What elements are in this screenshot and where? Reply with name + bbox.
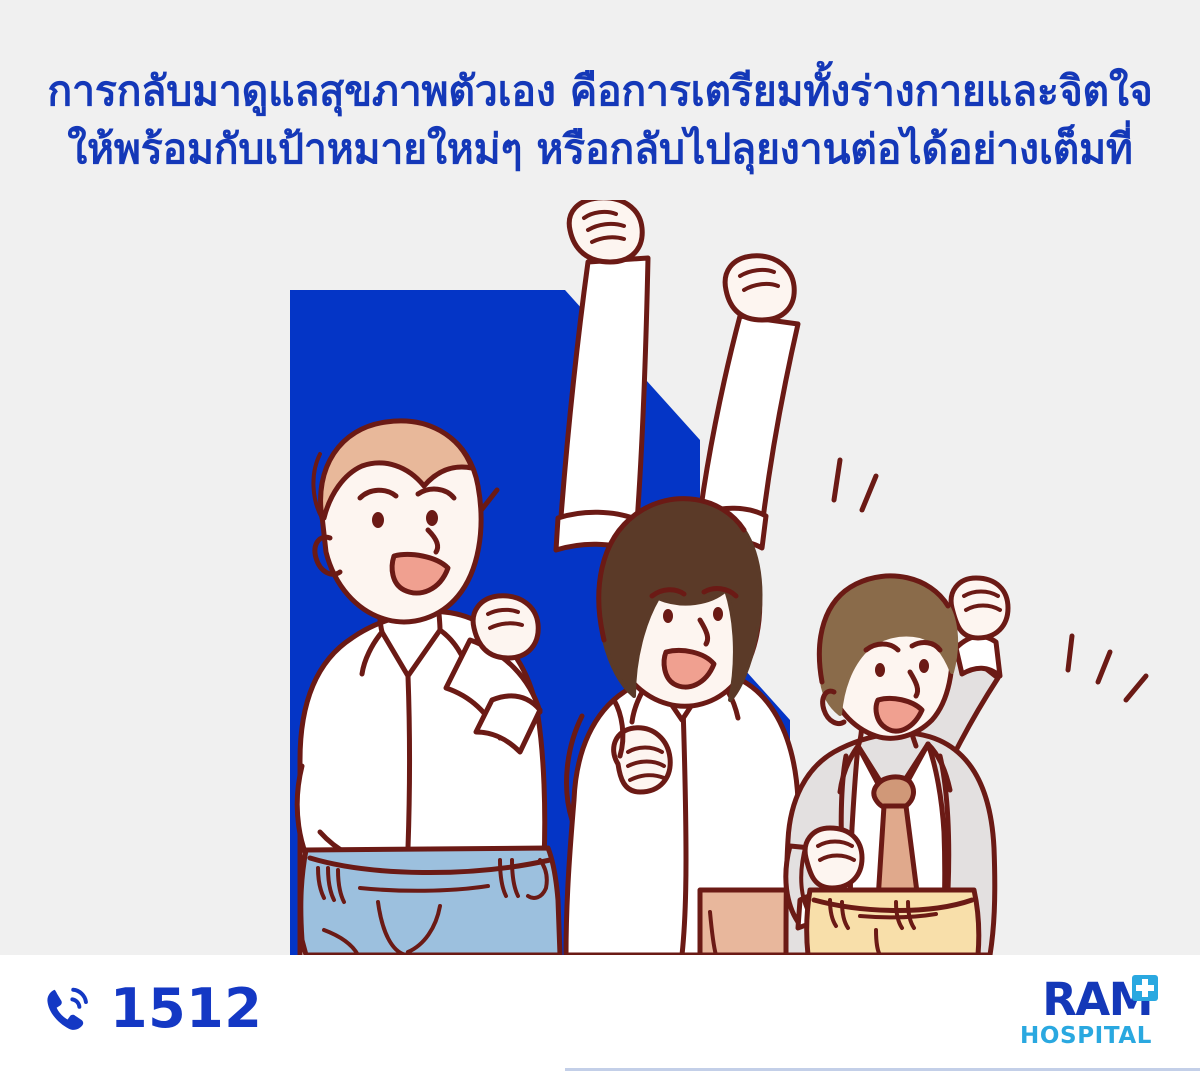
brand-logo: RAM HOSPITAL — [992, 977, 1152, 1049]
poster-canvas: การกลับมาดูแลสุขภาพตัวเอง คือการเตรียมทั… — [0, 0, 1200, 1071]
phone-ringing-icon[interactable] — [40, 981, 96, 1037]
headline-line-1: การกลับมาดูแลสุขภาพตัวเอง คือการเตรียมทั… — [0, 62, 1200, 120]
brand-subtitle: HOSPITAL — [992, 1024, 1152, 1049]
footer-bar: 1512 RAM HOSPITAL — [0, 955, 1200, 1071]
brand-main-row: RAM — [992, 977, 1152, 1023]
page-title: การกลับมาดูแลสุขภาพตัวเอง คือการเตรียมทั… — [0, 62, 1200, 178]
man-right-trousers — [807, 890, 979, 955]
hero-illustration — [0, 200, 1200, 955]
headline-line-2: ให้พร้อมกับเป้าหมายใหม่ๆ หรือกลับไปลุยงา… — [0, 120, 1200, 178]
hotline-number: 1512 — [110, 982, 262, 1036]
man-left-jeans — [301, 848, 560, 955]
hotline-block[interactable]: 1512 — [40, 981, 262, 1037]
medical-cross-icon — [1132, 975, 1158, 1001]
woman-center-lower — [700, 890, 792, 955]
cheering-people-illustration — [0, 200, 1200, 955]
